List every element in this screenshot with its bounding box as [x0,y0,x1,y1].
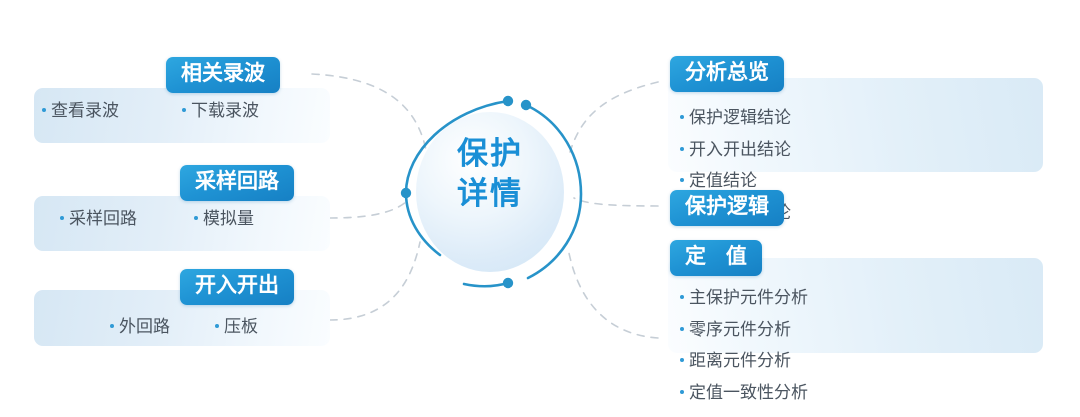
ring-dot-bottom [503,278,513,288]
bullet-icon [680,327,684,331]
bullet-icon [182,108,186,112]
ring-dot-top [503,96,513,106]
list-item[interactable]: 零序元件分析 [680,320,872,340]
list-item[interactable]: 下载录波 [182,101,322,121]
list-item[interactable]: 定值结论 [680,171,872,191]
bullet-icon [194,216,198,220]
list-item-label: 采样回路 [69,209,137,229]
list-item[interactable]: 保护逻辑结论 [680,108,872,128]
center-hub[interactable]: 保护 详情 [390,90,590,295]
list-item[interactable]: 外回路 [110,317,215,337]
list-item[interactable]: 距离元件分析 [680,351,872,371]
branch-caiyang-items: 采样回路 模拟量 [60,209,328,229]
hub-label-line-1: 保护 [390,134,590,174]
list-item-label: 外回路 [119,317,170,337]
hub-label-line-2: 详情 [390,174,590,214]
list-item[interactable]: 压板 [215,317,320,337]
list-item[interactable]: 查看录波 [42,101,182,121]
list-item[interactable]: 开入开出结论 [680,140,872,160]
bullet-icon [42,108,46,112]
branch-dingzhi-items: 主保护元件分析 零序元件分析 距离元件分析 定值一致性分析 [680,288,1045,402]
bullet-icon [680,178,684,182]
branch-dingzhi-title[interactable]: 定 值 [670,240,762,276]
list-item[interactable]: 主保护元件分析 [680,288,872,308]
list-item-label: 零序元件分析 [689,320,791,340]
branch-luboo-items: 查看录波 下载录波 [42,101,322,121]
list-item-label: 主保护元件分析 [689,288,808,308]
list-item-label: 开入开出结论 [689,140,791,160]
list-item-label: 距离元件分析 [689,351,791,371]
list-item[interactable]: 采样回路 [60,209,194,229]
list-item-label: 模拟量 [203,209,254,229]
bullet-icon [680,295,684,299]
branch-kairu-items: 外回路 压板 [110,317,325,337]
branch-caiyang-title[interactable]: 采样回路 [180,165,294,201]
hub-label: 保护 详情 [390,134,590,215]
ring-dot-top-right [521,100,531,110]
list-item-label: 定值一致性分析 [689,383,808,403]
list-item[interactable]: 模拟量 [194,209,328,229]
branch-zonglan-title[interactable]: 分析总览 [670,56,784,92]
bullet-icon [60,216,64,220]
bullet-icon [680,390,684,394]
branch-luboo-title[interactable]: 相关录波 [166,57,280,93]
list-item-label: 压板 [224,317,258,337]
list-item[interactable]: 定值一致性分析 [680,383,872,403]
branch-luoji-title[interactable]: 保护逻辑 [670,190,784,226]
branch-kairu-title[interactable]: 开入开出 [180,269,294,305]
list-item-label: 查看录波 [51,101,119,121]
bullet-icon [215,324,219,328]
bullet-icon [680,358,684,362]
list-item-label: 保护逻辑结论 [689,108,791,128]
list-item-label: 下载录波 [191,101,259,121]
bullet-icon [680,115,684,119]
diagram-canvas: 保护 详情 相关录波 查看录波 下载录波 采样回路 采样回路 [0,0,1080,417]
bullet-icon [110,324,114,328]
list-item-label: 定值结论 [689,171,757,191]
bullet-icon [680,147,684,151]
